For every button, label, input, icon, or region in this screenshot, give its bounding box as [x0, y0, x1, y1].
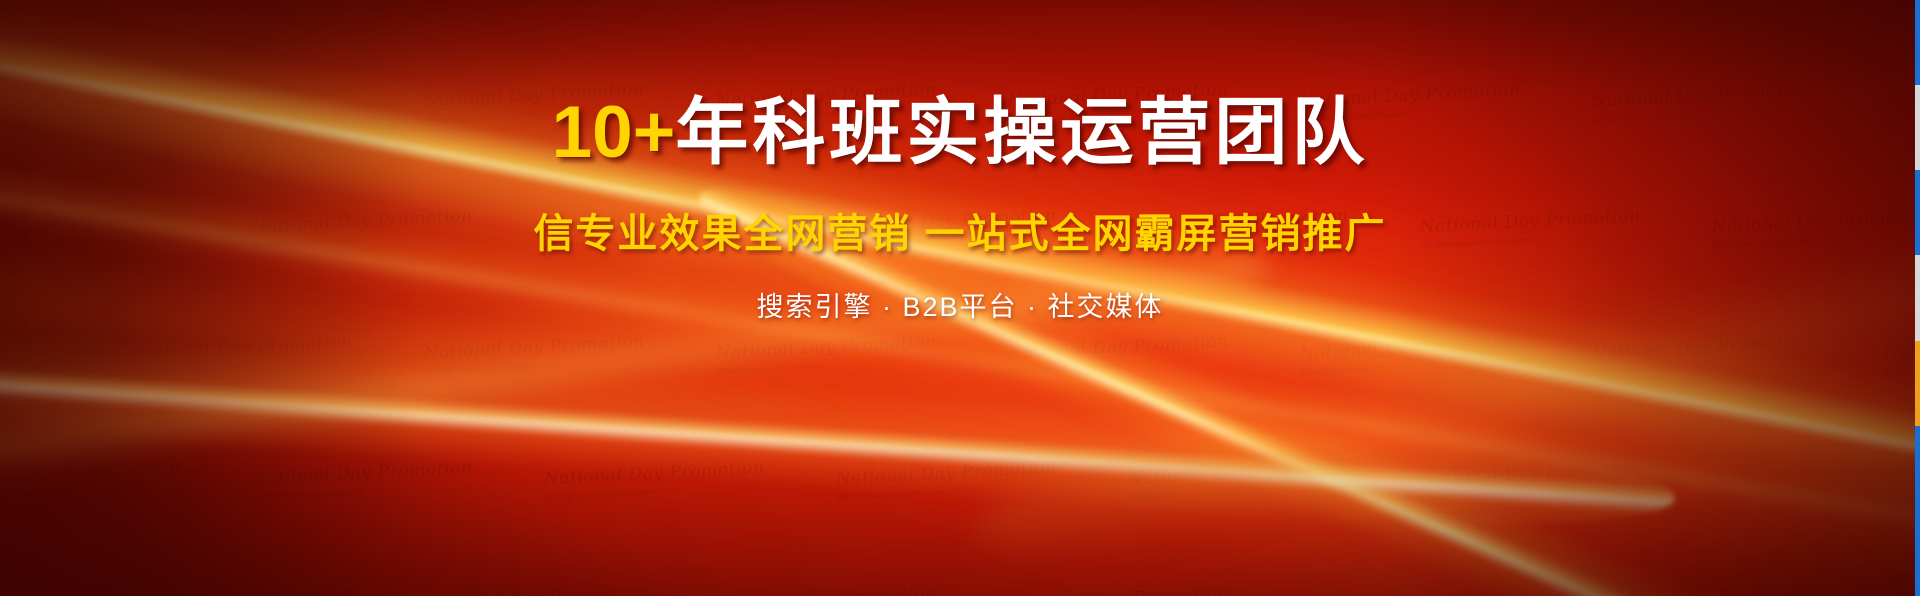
- headline-text: 年科班实操运营团队: [675, 92, 1368, 173]
- tagline: 搜索引擎 · B2B平台 · 社交媒体: [756, 285, 1163, 324]
- headline: 10+年科班实操运营团队: [552, 96, 1369, 169]
- banner-content: 10+年科班实操运营团队 信专业效果全网营销 一站式全网霸屏营销推广 搜索引擎 …: [0, 0, 1920, 596]
- headline-number: 10+: [552, 92, 676, 173]
- subheadline: 信专业效果全网营销 一站式全网霸屏营销推广: [533, 201, 1386, 259]
- promo-banner: National Day Promotion国庆促销 National Day …: [0, 0, 1920, 596]
